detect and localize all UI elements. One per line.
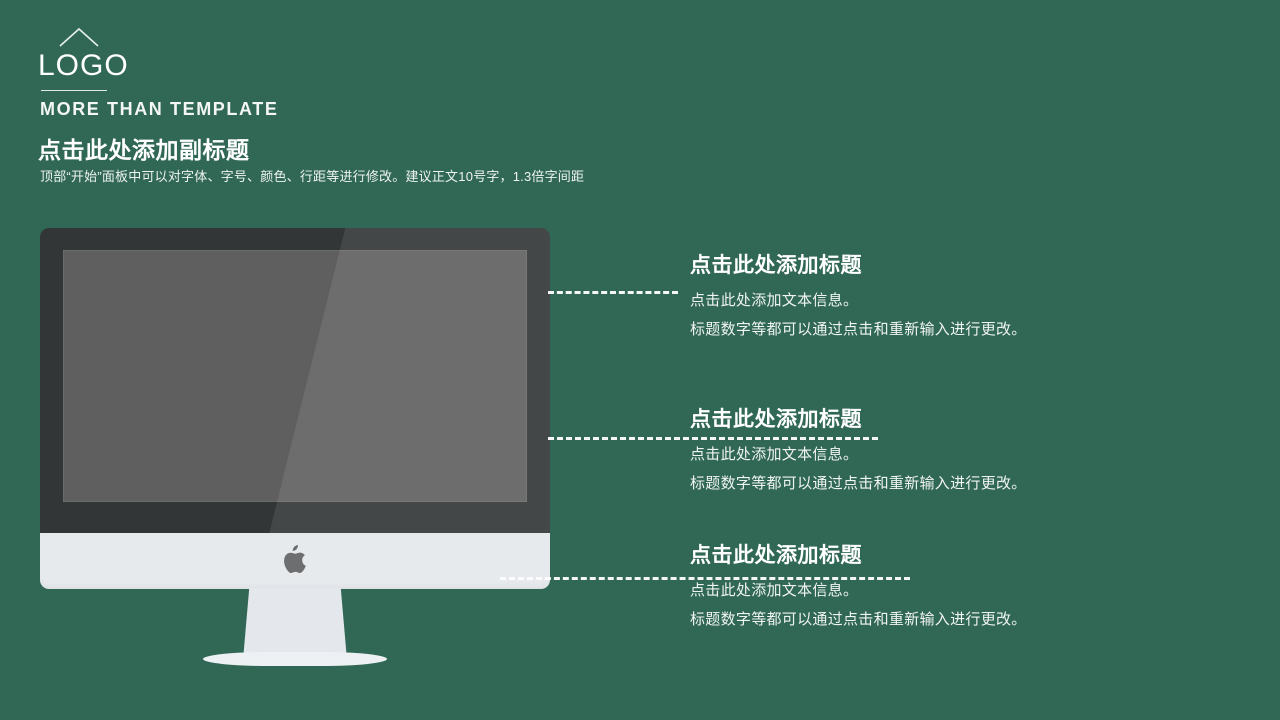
content-block-1-line-1: 点击此处添加文本信息。 bbox=[690, 286, 1250, 315]
logo[interactable]: LOGO bbox=[38, 26, 168, 91]
content-block-2-title: 点击此处添加标题 bbox=[690, 406, 1250, 434]
content-block-3-line-2: 标题数字等都可以通过点击和重新输入进行更改。 bbox=[690, 605, 1250, 634]
eyebrow-heading: MORE THAN TEMPLATE bbox=[40, 99, 278, 120]
chevron-up-icon bbox=[56, 26, 102, 48]
content-block-2-line-1: 点击此处添加文本信息。 bbox=[690, 440, 1250, 469]
content-block-3: 点击此处添加标题 点击此处添加文本信息。 标题数字等都可以通过点击和重新输入进行… bbox=[690, 542, 1250, 634]
monitor-stand-neck bbox=[243, 588, 347, 660]
content-block-1: 点击此处添加标题 点击此处添加文本信息。 标题数字等都可以通过点击和重新输入进行… bbox=[690, 252, 1250, 344]
content-block-3-title: 点击此处添加标题 bbox=[690, 542, 1250, 570]
page-subtitle: 点击此处添加副标题 bbox=[38, 131, 250, 165]
content-block-1-line-2: 标题数字等都可以通过点击和重新输入进行更改。 bbox=[690, 315, 1250, 344]
monitor-chin bbox=[40, 533, 550, 589]
content-block-1-title: 点击此处添加标题 bbox=[690, 252, 1250, 280]
connector-line-1 bbox=[548, 291, 678, 294]
monitor-screen bbox=[63, 250, 527, 502]
slide-canvas: LOGO MORE THAN TEMPLATE 点击此处添加副标题 顶部“开始”… bbox=[0, 0, 1280, 720]
monitor-bezel bbox=[40, 228, 550, 538]
content-block-2-line-2: 标题数字等都可以通过点击和重新输入进行更改。 bbox=[690, 469, 1250, 498]
content-block-2: 点击此处添加标题 点击此处添加文本信息。 标题数字等都可以通过点击和重新输入进行… bbox=[690, 406, 1250, 498]
imac-illustration bbox=[40, 228, 550, 648]
page-description: 顶部“开始”面板中可以对字体、字号、颜色、行距等进行修改。建议正文10号字，1.… bbox=[40, 166, 584, 185]
logo-text: LOGO bbox=[38, 50, 168, 82]
content-block-3-line-1: 点击此处添加文本信息。 bbox=[690, 576, 1250, 605]
monitor-stand-base bbox=[203, 652, 387, 666]
apple-logo-icon bbox=[282, 544, 308, 575]
logo-divider bbox=[41, 90, 107, 91]
